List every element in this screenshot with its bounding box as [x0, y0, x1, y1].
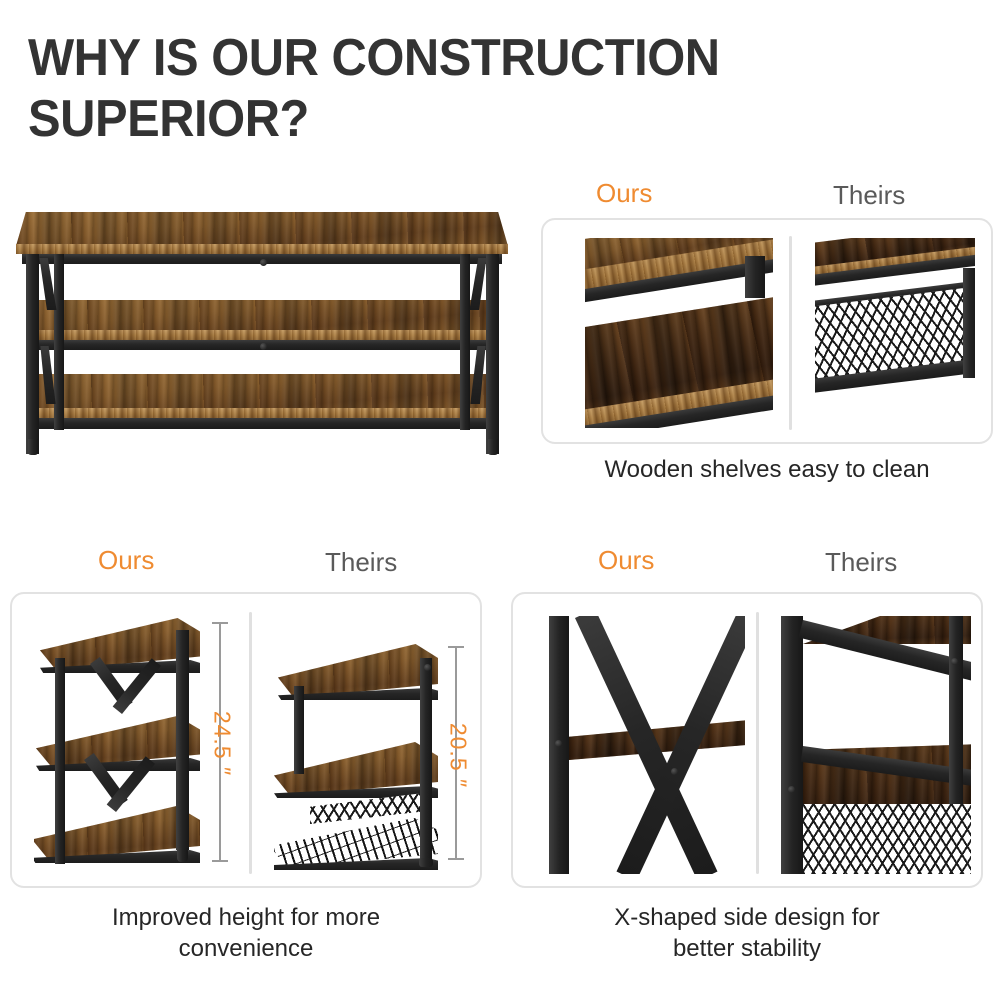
ours3-rear-post [176, 630, 189, 850]
panel-height-ours-photo [34, 608, 224, 874]
theirs2-front-post [294, 686, 304, 774]
panel-xbrace-ours-label: Ours [598, 545, 654, 576]
panel-height-theirs-photo [274, 632, 450, 874]
panel-xbrace-divider [756, 612, 759, 874]
panel-shelves [541, 218, 993, 444]
hero-bottom-rail [30, 418, 494, 429]
panel-shelves-ours-photo [585, 238, 773, 428]
xb-ours-post-screw [555, 740, 562, 747]
theirs2-foot [419, 858, 433, 867]
hero-left-leg [26, 254, 39, 454]
panel-xbrace [511, 592, 983, 888]
panel-shelves-divider [789, 236, 792, 430]
xb-theirs-rail-screw [951, 658, 958, 665]
panel-height-ours-label: Ours [98, 545, 154, 576]
panel-height-divider [249, 612, 252, 874]
panel-xbrace-theirs-photo [771, 616, 971, 874]
panel-xbrace-caption: X-shaped side design for better stabilit… [511, 903, 983, 964]
hero-product-image [8, 196, 518, 486]
ours-height-dim-cap-top [212, 622, 228, 624]
hero-middle-shelf-surface [32, 300, 490, 332]
ours-rear-post [745, 256, 765, 298]
hero-right-inner-post [460, 254, 470, 430]
xb-theirs-post-screw [788, 786, 795, 793]
hero-top-shelf-edge [16, 244, 508, 254]
panel-xbrace-ours-photo [545, 616, 745, 874]
panel-shelves-ours-label: Ours [596, 178, 652, 209]
theirs2-screw [424, 664, 431, 671]
theirs-height-dim-cap-top [448, 646, 464, 648]
hero-bottom-shelf-edge [36, 408, 488, 418]
xb-theirs-vertical-post [781, 616, 803, 874]
page-title: WHY IS OUR CONSTRUCTION SUPERIOR? [28, 28, 771, 151]
hero-top-shelf-surface [16, 212, 508, 246]
hero-screw [260, 259, 267, 266]
panel-shelves-theirs-label: Theirs [833, 180, 905, 211]
theirs-height-value: 20.5 ″ [445, 696, 472, 816]
hero-screw [260, 343, 267, 350]
hero-left-foot [28, 439, 38, 455]
theirs2-rear-post [420, 658, 432, 860]
panel-shelves-theirs-photo [815, 238, 975, 428]
ours3-front-post [55, 658, 65, 864]
hero-middle-shelf-edge [32, 330, 490, 340]
hero-right-foot [488, 439, 498, 455]
xb-theirs-mesh-panel [803, 804, 971, 874]
theirs-side-post [963, 268, 975, 378]
panel-height-caption: Improved height for more convenience [10, 903, 482, 964]
hero-right-leg [486, 254, 499, 454]
ours-height-dim-cap-bottom [212, 860, 228, 862]
theirs-height-dim-cap-bottom [448, 858, 464, 860]
panel-shelves-caption: Wooden shelves easy to clean [541, 455, 993, 486]
xb-ours-brace-screw [671, 768, 678, 775]
ours-height-value: 24.5 ″ [209, 684, 236, 804]
xb-theirs-rear-post [949, 616, 963, 804]
panel-height-theirs-label: Theirs [325, 547, 397, 578]
ours3-foot [177, 848, 188, 862]
infographic-root: WHY IS OUR CONSTRUCTION SUPERIOR? Ours [0, 0, 1000, 1000]
hero-bottom-shelf-surface [36, 374, 488, 410]
panel-xbrace-theirs-label: Theirs [825, 547, 897, 578]
panel-height: 24.5 ″ 20.5 ″ [10, 592, 482, 888]
